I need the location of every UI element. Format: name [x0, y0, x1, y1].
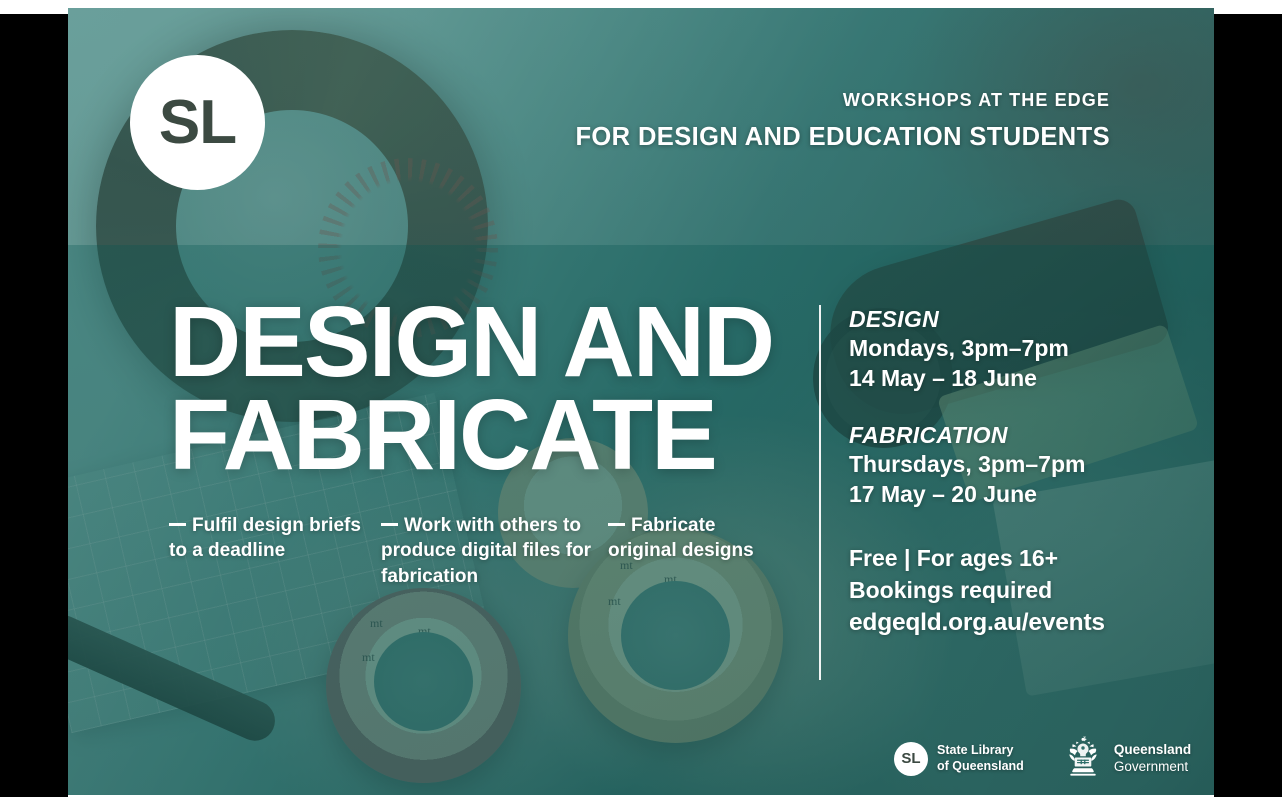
headline-line-2: FABRICATE	[169, 389, 773, 482]
session-schedule: Thursdays, 3pm–7pm	[849, 449, 1179, 479]
session-dates: 14 May – 18 June	[849, 363, 1179, 393]
poster-artwork: mt mt mt mt mt mt mt mt SL	[68, 8, 1214, 795]
list-item: Fabricate original designs	[608, 513, 783, 589]
dash-icon	[608, 523, 625, 527]
session-schedule: Mondays, 3pm–7pm	[849, 333, 1179, 363]
session-fabrication: FABRICATION Thursdays, 3pm–7pm 17 May – …	[849, 422, 1179, 510]
website-url[interactable]: edgeqld.org.au/events	[849, 606, 1179, 639]
state-library-footer-logo: SL State Library of Queensland	[894, 742, 1024, 776]
vertical-divider	[819, 305, 821, 680]
session-title: DESIGN	[849, 306, 1179, 333]
dash-icon	[381, 523, 398, 527]
letterbox-bar-left	[0, 14, 68, 797]
footer-logo-letters: SL	[894, 742, 928, 776]
list-item: Work with others to produce digital file…	[381, 513, 596, 589]
session-title: FABRICATION	[849, 422, 1179, 449]
queensland-government-logo: Queensland Government	[1061, 735, 1191, 782]
footer-logos: SL State Library of Queensland	[894, 735, 1191, 782]
list-item-label: Fabricate original designs	[608, 515, 754, 561]
state-library-line-2: of Queensland	[937, 759, 1024, 774]
state-library-logo: SL	[130, 55, 265, 190]
state-library-line-1: State Library	[937, 743, 1024, 758]
header-subhead: FOR DESIGN AND EDUCATION STUDENTS	[575, 122, 1110, 153]
letterbox-bar-right	[1214, 14, 1282, 797]
list-item-label: Fulfil design briefs to a deadline	[169, 515, 361, 561]
queensland-coat-of-arms-icon	[1061, 735, 1105, 782]
logo-letters: SL	[130, 55, 265, 190]
speech-bubble-icon: SL	[894, 742, 928, 776]
queensland-government-wordmark: Queensland Government	[1114, 742, 1191, 775]
state-library-wordmark: State Library of Queensland	[937, 743, 1024, 774]
headline-line-1: DESIGN AND	[169, 296, 773, 389]
feature-list: Fulfil design briefs to a deadline Work …	[169, 513, 809, 589]
cost-line: Free | For ages 16+	[849, 543, 1179, 574]
dash-icon	[169, 523, 186, 527]
details-column: DESIGN Mondays, 3pm–7pm 14 May – 18 June…	[849, 306, 1179, 639]
qgov-line-2: Government	[1114, 759, 1191, 775]
header-kicker: WORKSHOPS AT THE EDGE	[575, 90, 1110, 112]
qgov-line-1: Queensland	[1114, 742, 1191, 758]
poster-screenshot: mt mt mt mt mt mt mt mt SL	[0, 0, 1282, 811]
header-block: WORKSHOPS AT THE EDGE FOR DESIGN AND EDU…	[575, 90, 1110, 152]
session-design: DESIGN Mondays, 3pm–7pm 14 May – 18 June	[849, 306, 1179, 394]
page-title: DESIGN AND FABRICATE	[169, 296, 773, 482]
booking-info: Free | For ages 16+ Bookings required ed…	[849, 543, 1179, 639]
session-dates: 17 May – 20 June	[849, 479, 1179, 509]
bookings-line: Bookings required	[849, 575, 1179, 606]
list-item-label: Work with others to produce digital file…	[381, 515, 591, 587]
list-item: Fulfil design briefs to a deadline	[169, 513, 369, 589]
